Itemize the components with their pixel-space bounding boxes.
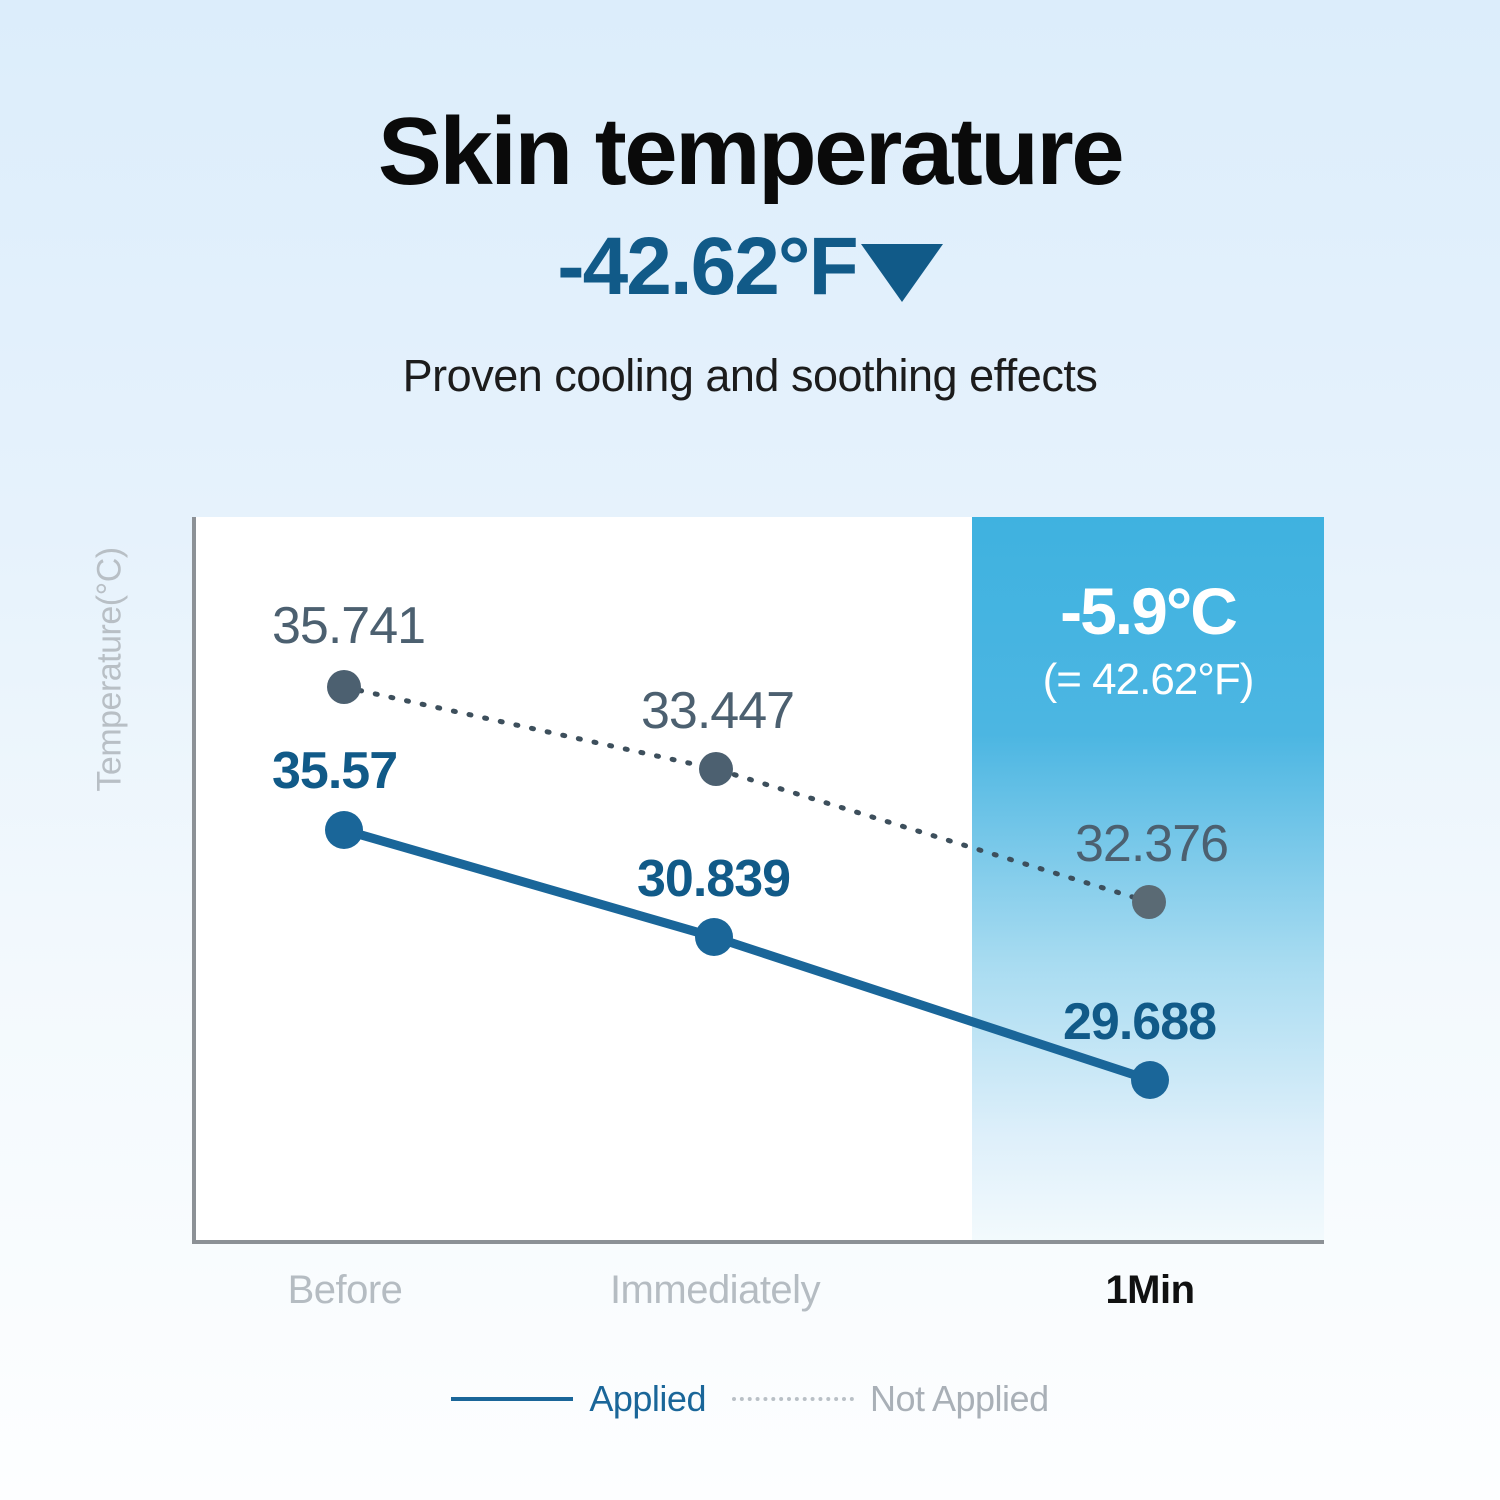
- band-delta-celsius: -5.9°C: [972, 578, 1324, 644]
- label-applied-immediately: 30.839: [637, 853, 790, 905]
- x-tick-before: Before: [195, 1268, 495, 1313]
- label-not-applied-1min: 32.376: [1075, 818, 1228, 870]
- y-axis-label: Temperature(°C): [91, 500, 130, 840]
- legend-item-applied[interactable]: Applied: [451, 1378, 706, 1420]
- solid-line-icon: [451, 1397, 573, 1401]
- x-tick-1min: 1Min: [1000, 1268, 1300, 1313]
- legend-label-not-applied: Not Applied: [870, 1378, 1049, 1420]
- legend-item-not-applied[interactable]: Not Applied: [732, 1378, 1049, 1420]
- label-not-applied-before: 35.741: [272, 600, 425, 652]
- chart-container: Temperature(°C) 35.741 33.447 32.376 35.…: [0, 0, 1500, 1500]
- y-axis-line: [192, 517, 196, 1244]
- label-applied-before: 35.57: [272, 745, 397, 797]
- x-axis-line: [192, 1240, 1324, 1244]
- label-not-applied-immediately: 33.447: [641, 685, 794, 737]
- band-delta-fahrenheit: (= 42.62°F): [972, 658, 1324, 702]
- band-caption: -5.9°C (= 42.62°F): [972, 578, 1324, 702]
- label-applied-1min: 29.688: [1063, 996, 1216, 1048]
- chart-legend: Applied Not Applied: [0, 1378, 1500, 1420]
- x-tick-immediately: Immediately: [565, 1268, 865, 1313]
- legend-label-applied: Applied: [589, 1378, 706, 1420]
- dotted-line-icon: [732, 1397, 854, 1401]
